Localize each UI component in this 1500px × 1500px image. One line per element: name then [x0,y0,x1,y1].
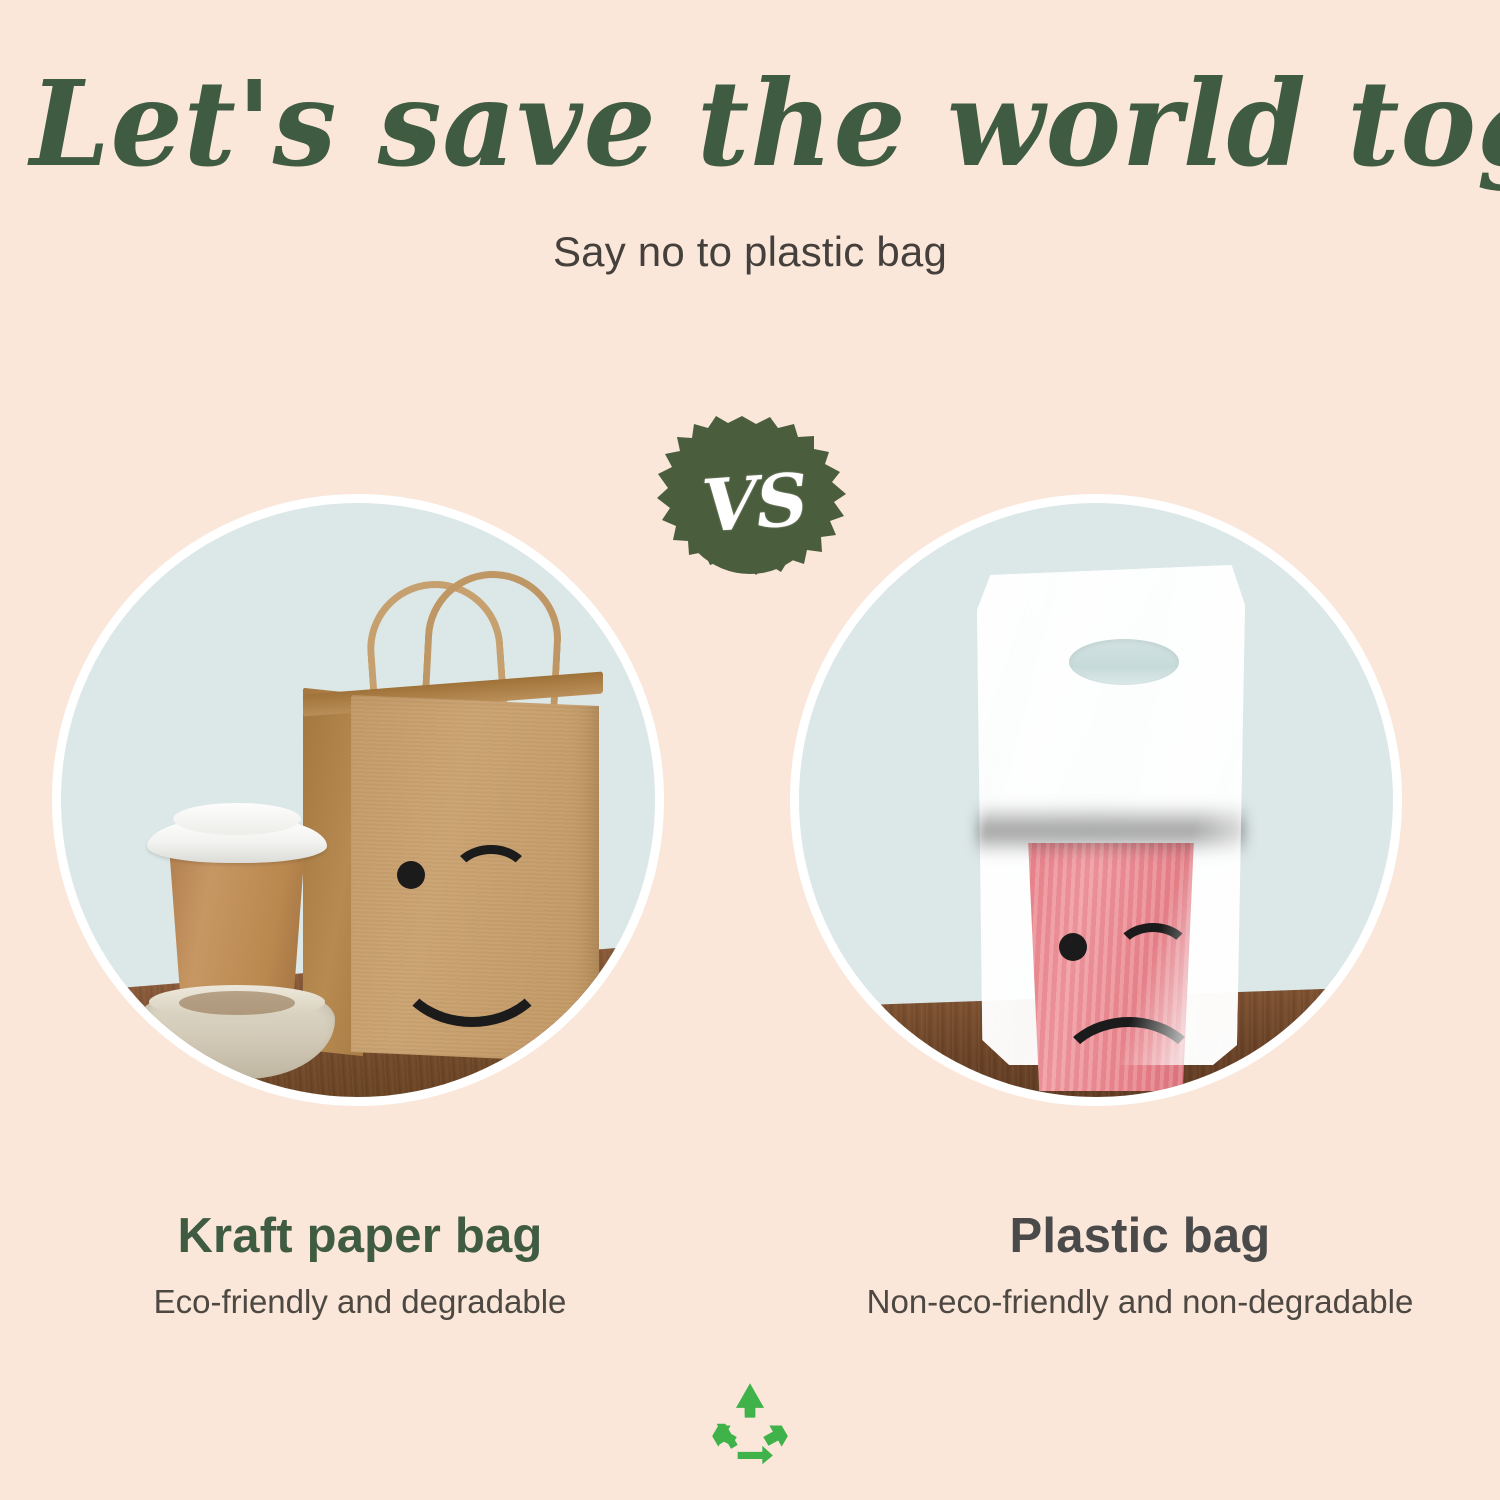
kraft-paper-bag [351,661,599,1061]
infographic-canvas: Let's save the world together Say no to … [0,0,1500,1500]
comparison-circle-plastic [790,494,1402,1106]
plastic-label-title: Plastic bag [790,1208,1490,1264]
page-subheadline: Say no to plastic bag [0,228,1500,276]
plastic-bag-blur-band [977,803,1245,857]
coffee-cup-lid-top [173,803,301,835]
plastic-bag-die-cut-handle [1069,639,1179,685]
kraft-bag-front-panel [351,695,599,1063]
paper-coffee-cup [139,783,335,1073]
sad-left-eye-icon [1059,933,1087,961]
kraft-label-title: Kraft paper bag [10,1208,710,1264]
plastic-label-subtitle: Non-eco-friendly and non-degradable [790,1283,1490,1321]
plastic-scene [799,503,1393,1097]
coffee-cup-body [163,845,311,1003]
kraft-label-subtitle: Eco-friendly and degradable [10,1283,710,1321]
plastic-bag [977,565,1245,1065]
smiley-left-eye-icon [397,861,425,889]
smiley-mouth-icon [391,895,553,1027]
recycle-icon [706,1378,794,1466]
sad-winking-eye-icon [1113,923,1193,987]
page-headline: Let's save the world together [30,62,1470,186]
comparison-circle-kraft [52,494,664,1106]
pulp-holder-opening [179,991,295,1015]
kraft-scene [61,503,655,1097]
